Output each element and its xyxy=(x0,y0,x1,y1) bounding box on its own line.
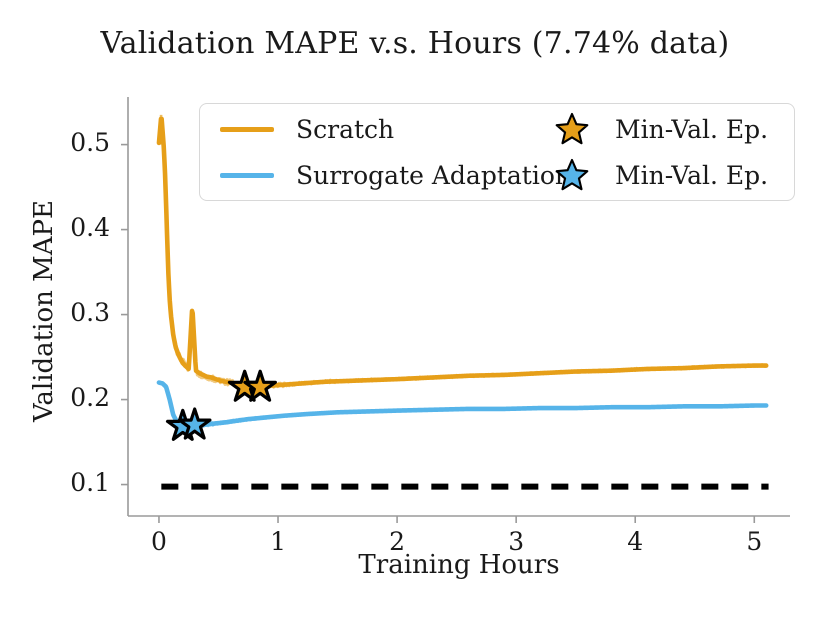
y-tick-label: 0.2 xyxy=(54,383,110,412)
legend-label-scratch-marker: Min-Val. Ep. xyxy=(615,115,768,144)
chart-figure: Validation MAPE v.s. Hours (7.74% data) … xyxy=(0,0,830,623)
x-tick-label: 3 xyxy=(496,527,536,556)
x-tick-label: 0 xyxy=(139,527,179,556)
legend-star-icon-surrogate xyxy=(555,158,589,192)
legend-line-swatch-surrogate xyxy=(220,173,274,178)
chart-legend: Scratch Min-Val. Ep. Surrogate Adaptatio… xyxy=(199,103,795,201)
y-tick-label: 0.4 xyxy=(54,213,110,242)
x-tick-label: 4 xyxy=(615,527,655,556)
legend-line-swatch-scratch xyxy=(220,127,274,132)
x-tick-label: 5 xyxy=(734,527,774,556)
y-tick-label: 0.5 xyxy=(54,128,110,157)
x-tick-label: 1 xyxy=(258,527,298,556)
legend-label-surrogate: Surrogate Adaptation xyxy=(296,161,571,190)
y-tick-label: 0.3 xyxy=(54,298,110,327)
tick-marks xyxy=(121,145,754,523)
x-tick-label: 2 xyxy=(377,527,417,556)
legend-star-icon-scratch xyxy=(555,112,589,146)
y-tick-label: 0.1 xyxy=(54,468,110,497)
legend-label-scratch: Scratch xyxy=(296,115,394,144)
legend-label-surrogate-marker: Min-Val. Ep. xyxy=(615,161,768,190)
